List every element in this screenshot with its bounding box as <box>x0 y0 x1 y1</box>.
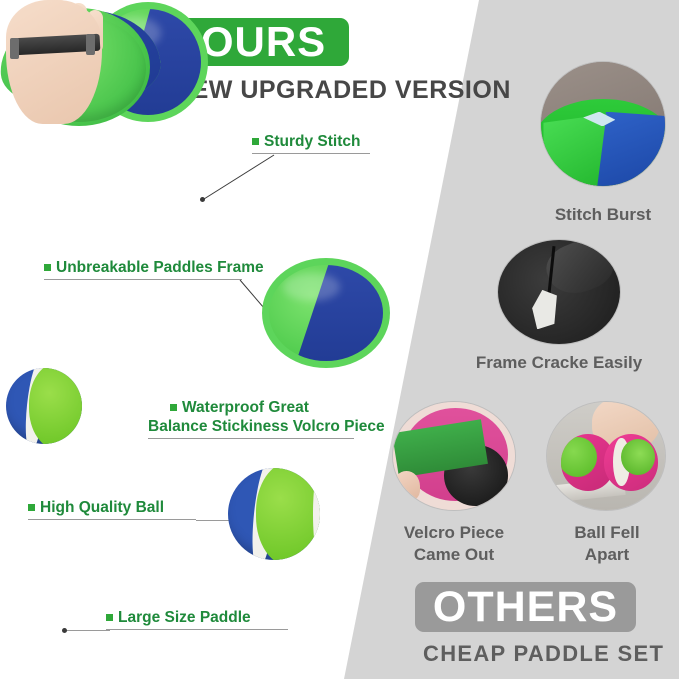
callout-rule <box>28 519 196 520</box>
leader-dot <box>200 197 205 202</box>
callout-label: High Quality Ball <box>40 499 164 516</box>
photo-paddle-single <box>262 258 390 368</box>
leader-dot <box>62 628 67 633</box>
others-subtitle: CHEAP PADDLE SET <box>423 641 664 667</box>
callout-text: Large Size Paddle <box>106 608 288 627</box>
ball-green-half <box>256 468 320 560</box>
callout-text-line1: Waterproof Great <box>148 398 354 417</box>
callout-rule <box>106 629 288 630</box>
bullet-square-icon <box>44 264 51 271</box>
bullet-square-icon <box>170 404 177 411</box>
callout-text-line2: Balance Stickiness Volcro Piece <box>148 417 354 436</box>
photo-waterproof-paddle <box>0 125 160 233</box>
photo-stitch-burst <box>541 62 665 186</box>
bullet-square-icon <box>252 138 259 145</box>
paddle-face <box>269 265 383 361</box>
defect-caption-ball-fell-apart: Ball Fell Apart <box>545 522 669 566</box>
bullet-square-icon <box>28 504 35 511</box>
photo-velcro-came-out <box>393 402 515 510</box>
paddle-highlight <box>283 273 340 302</box>
callout-label: Balance Stickiness Volcro Piece <box>148 418 385 435</box>
photo-ball-fell-apart <box>547 402 665 510</box>
callout-label: Unbreakable Paddles Frame <box>56 259 264 276</box>
callout-text: Sturdy Stitch <box>252 132 370 151</box>
callout-waterproof-velcro: Waterproof Great Balance Stickiness Volc… <box>148 398 354 439</box>
callout-rule <box>44 279 242 280</box>
others-badge: OTHERS <box>415 582 636 632</box>
defect-caption-velcro-came-out: Velcro Piece Came Out <box>389 522 519 566</box>
callout-rule <box>252 153 370 154</box>
callout-rule <box>148 438 354 439</box>
leader-line-large-size-paddle <box>64 630 110 631</box>
callout-high-quality-ball: High Quality Ball <box>28 498 196 520</box>
ball-green-half <box>29 368 82 444</box>
photo-ball-on-paddle <box>6 368 82 444</box>
callout-label: Large Size Paddle <box>118 609 251 626</box>
callout-text: Unbreakable Paddles Frame <box>44 258 242 277</box>
photo-frame-crack <box>498 240 620 344</box>
leader-line-sturdy-stitch <box>196 155 276 201</box>
thumb <box>393 471 420 501</box>
defect-caption-frame-crack: Frame Cracke Easily <box>443 352 675 374</box>
callout-label: Sturdy Stitch <box>264 133 360 150</box>
defect-caption-stitch-burst: Stitch Burst <box>528 204 678 226</box>
photo-hand-holding-paddle <box>0 233 178 364</box>
callout-sturdy-stitch: Sturdy Stitch <box>252 132 370 154</box>
ball-half-right <box>604 434 658 490</box>
photo-ball <box>228 468 320 560</box>
bullet-square-icon <box>106 614 113 621</box>
callout-large-size-paddle: Large Size Paddle <box>106 608 288 630</box>
callout-unbreakable-frame: Unbreakable Paddles Frame <box>44 258 242 280</box>
callout-text: High Quality Ball <box>28 498 196 517</box>
callout-label: Waterproof Great <box>182 399 309 416</box>
infographic-canvas: OURS 2020 NEW UPGRADED VERSION Sturdy St… <box>0 0 679 679</box>
